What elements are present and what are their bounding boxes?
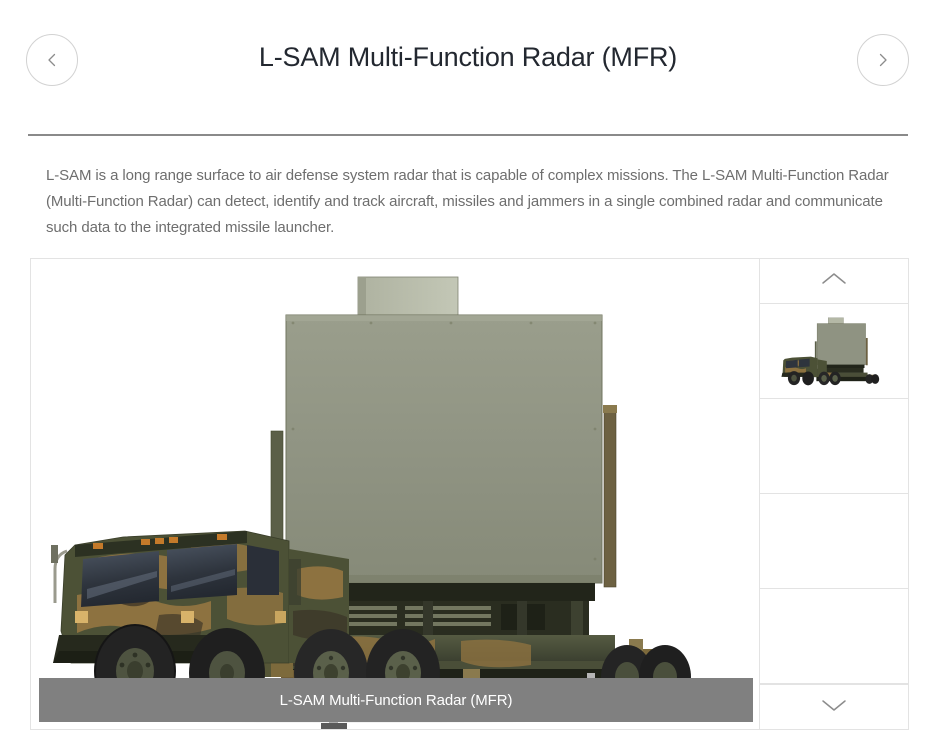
next-item-button[interactable] [857,34,909,86]
prev-item-button[interactable] [26,34,78,86]
image-gallery: L-SAM Multi-Function Radar (MFR) [30,258,909,730]
thumbnail-rail [760,259,908,729]
page-header: L-SAM Multi-Function Radar (MFR) [0,0,936,120]
thumbnail-list [760,304,908,684]
thumbnail-placeholder [760,399,908,494]
product-description: L-SAM is a long range surface to air def… [46,163,892,241]
image-caption-text: L-SAM Multi-Function Radar (MFR) [280,692,513,709]
chevron-left-icon [43,51,61,69]
thumbnail-placeholder [760,589,908,684]
main-image [31,259,760,729]
chevron-up-icon [821,271,847,292]
product-detail-page: L-SAM Multi-Function Radar (MFR) L-SAM i… [0,0,936,742]
page-title: L-SAM Multi-Function Radar (MFR) [259,44,677,71]
gallery-main-viewer[interactable]: L-SAM Multi-Function Radar (MFR) [31,259,760,729]
thumbnail-placeholder [760,494,908,589]
chevron-down-icon [821,697,847,718]
thumbnail-scroll-up-button[interactable] [760,259,908,304]
chevron-right-icon [874,51,892,69]
thumbnail-scroll-down-button[interactable] [760,684,908,729]
header-divider [28,134,908,136]
image-caption: L-SAM Multi-Function Radar (MFR) [39,678,753,722]
thumbnail-item[interactable] [760,304,908,399]
